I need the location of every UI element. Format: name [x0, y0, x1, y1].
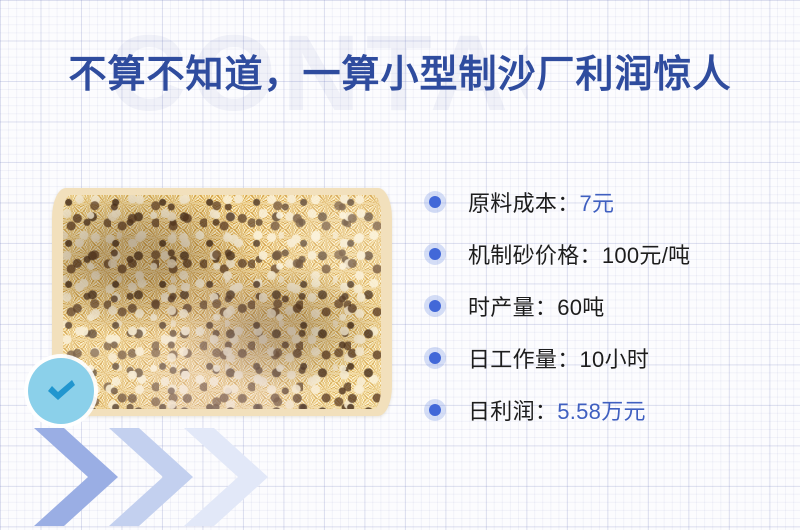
spec-raw-material-cost: 原料成本：7元: [468, 186, 614, 218]
spec-label: 日工作量：: [468, 347, 580, 372]
spec-value: 60吨: [557, 295, 604, 320]
spec-value: 100元/吨: [602, 243, 691, 268]
bullet-dot-icon: [424, 243, 446, 265]
bullet-dot-icon: [424, 295, 446, 317]
list-item: 时产量：60吨: [424, 280, 784, 332]
list-item: 机制砂价格：100元/吨: [424, 228, 784, 280]
list-item: 原料成本：7元: [424, 176, 784, 228]
bullet-dot-icon: [424, 347, 446, 369]
spec-value: 7元: [580, 191, 615, 216]
chevron-right-icon: [178, 424, 286, 530]
spec-label: 日利润：: [468, 399, 557, 424]
spec-daily-profit: 日利润：5.58万元: [468, 394, 646, 426]
bullet-dot-icon: [424, 399, 446, 421]
spec-label: 时产量：: [468, 295, 557, 320]
spec-label: 原料成本：: [468, 191, 580, 216]
sand-photo-image: [63, 195, 381, 409]
bullet-dot-icon: [424, 191, 446, 213]
list-item: 日利润：5.58万元: [424, 384, 784, 436]
list-item: 日工作量：10小时: [424, 332, 784, 384]
spec-daily-work-hours: 日工作量：10小时: [468, 342, 649, 374]
chevron-decoration-group: [0, 424, 250, 530]
spec-value: 10小时: [580, 347, 650, 372]
spec-value: 5.58万元: [557, 399, 646, 424]
sand-photo-card: [52, 188, 392, 416]
spec-label: 机制砂价格：: [468, 243, 602, 268]
check-badge: [28, 358, 94, 424]
spec-hourly-output: 时产量：60吨: [468, 290, 605, 322]
check-icon: [41, 371, 81, 411]
poster-canvas: CONTACT 不算不知道，一算小型制沙厂利润惊人 原料成本：7元 机制砂价格：…: [0, 0, 800, 530]
page-title: 不算不知道，一算小型制沙厂利润惊人: [0, 52, 800, 98]
spec-sand-price: 机制砂价格：100元/吨: [468, 238, 690, 270]
spec-list: 原料成本：7元 机制砂价格：100元/吨 时产量：60吨 日工作量：10小时 日…: [424, 176, 784, 436]
